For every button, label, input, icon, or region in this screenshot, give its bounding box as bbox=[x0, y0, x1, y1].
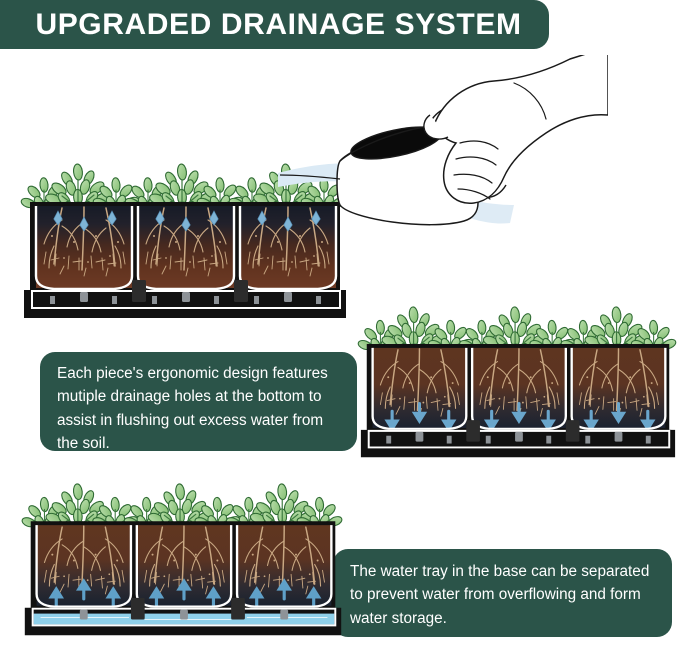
planter-illustration-middle bbox=[357, 300, 679, 470]
hand-pouring-watering-can bbox=[278, 55, 608, 240]
caption-text: Each piece's ergonomic design features m… bbox=[57, 362, 343, 455]
infographic-canvas: UPGRADED DRAINAGE SYSTEM Each piece's er… bbox=[0, 0, 679, 647]
header-banner: UPGRADED DRAINAGE SYSTEM bbox=[0, 0, 549, 49]
hand-outline bbox=[434, 55, 608, 203]
caption-water-tray: The water tray in the base can be separa… bbox=[333, 549, 672, 637]
caption-drainage-holes: Each piece's ergonomic design features m… bbox=[40, 352, 357, 451]
planter-illustration-bottom bbox=[20, 478, 346, 647]
caption-text: The water tray in the base can be separa… bbox=[350, 560, 660, 630]
page-title: UPGRADED DRAINAGE SYSTEM bbox=[35, 10, 521, 40]
